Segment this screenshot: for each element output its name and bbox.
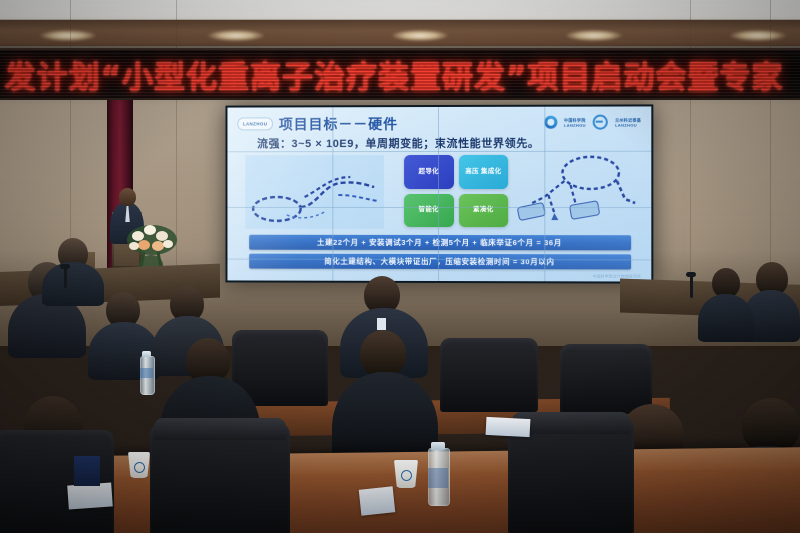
institute-logo-line1: 中国科学院 [564, 117, 586, 122]
document [359, 486, 396, 515]
slide-feature-boxes: 超导化 高压 集成化 智能化 紧凑化 [404, 155, 508, 227]
company-logo-text: 兰州科近泰基 LANZHOU [615, 117, 641, 127]
downlight [208, 30, 264, 41]
bottle-cap [142, 351, 151, 357]
company-ring-icon [593, 115, 608, 130]
tile-seam [544, 107, 545, 282]
conference-photo: 发计划“小型化重离子治疗装置研发”项目启动会暨专家 LANZHOU 项目目标－－… [0, 0, 800, 533]
downlight [730, 30, 786, 41]
timeline-bar-optimized: 简化土建结构、大模块带证出厂，压缩安装检测时间 = 30月以内 [249, 254, 631, 270]
attendee-body [698, 294, 754, 342]
bottle-label [140, 368, 153, 378]
document [67, 482, 113, 509]
timeline-bar-baseline: 土建22个月 + 安装调试3个月 + 检测5个月 + 临床举证6个月 = 36月 [249, 235, 631, 251]
facility-layout-diagram [514, 151, 643, 234]
attendee-head [360, 330, 406, 378]
microphone [686, 272, 696, 277]
feature-box-intelligent: 智能化 [404, 193, 453, 227]
feature-box-superconducting: 超导化 [404, 155, 453, 189]
downlight [40, 30, 96, 41]
microphone [60, 264, 70, 269]
led-banner-text: 发计划“小型化重离子治疗装置研发”项目启动会暨专家 [5, 52, 784, 97]
slide-logos-right: 中国科学院 LANZHOU 兰州科近泰基 LANZHOU [544, 115, 641, 130]
downlight [566, 30, 622, 41]
presentation-slide: LANZHOU 项目目标－－硬件 中国科学院 LANZHOU 兰州科近泰基 LA… [227, 106, 651, 281]
microphone [64, 268, 67, 288]
document-folder [74, 456, 100, 486]
conference-chair [440, 338, 538, 412]
attendee-body [42, 262, 104, 306]
institute-logo-line2: LANZHOU [564, 122, 586, 127]
led-banner: 发计划“小型化重离子治疗装置研发”项目启动会暨专家 [0, 48, 800, 100]
projection-screen: LANZHOU 项目目标－－硬件 中国科学院 LANZHOU 兰州科近泰基 LA… [227, 106, 651, 281]
conference-chair [150, 424, 290, 533]
cup-logo-icon [134, 462, 145, 473]
presenter-head [119, 188, 136, 206]
slide-title: 项目目标－－硬件 [279, 114, 398, 134]
video-wall: LANZHOU 项目目标－－硬件 中国科学院 LANZHOU 兰州科近泰基 LA… [225, 104, 653, 283]
tile-seam [332, 107, 333, 280]
tile-seam [227, 207, 651, 208]
conference-chair [560, 344, 652, 414]
slide-subtitle: 流强：3~5 × 10E9，单周期变能；束流性能世界领先。 [257, 135, 539, 151]
company-logo-line2: LANZHOU [615, 122, 641, 127]
downlight [392, 30, 448, 41]
tile-seam [438, 107, 439, 281]
cup-logo-icon [401, 470, 412, 481]
chair-headrest [154, 418, 286, 440]
accelerator-layout-diagram [239, 155, 398, 231]
institute-swirl-icon [544, 116, 557, 129]
microphone [690, 276, 693, 298]
institute-logo-text: 中国科学院 LANZHOU [564, 117, 586, 127]
slide-header: LANZHOU 项目目标－－硬件 中国科学院 LANZHOU 兰州科近泰基 LA… [235, 113, 643, 132]
company-logo-line1: 兰州科近泰基 [615, 117, 641, 122]
attendee-badge [377, 318, 386, 330]
slide-logo-left-icon: LANZHOU [237, 117, 273, 130]
document [486, 417, 531, 437]
feature-box-integration: 高压 集成化 [459, 155, 509, 189]
bottle-cap [431, 442, 445, 450]
bottle-label [428, 468, 448, 488]
feature-box-compact: 紧凑化 [459, 193, 509, 227]
